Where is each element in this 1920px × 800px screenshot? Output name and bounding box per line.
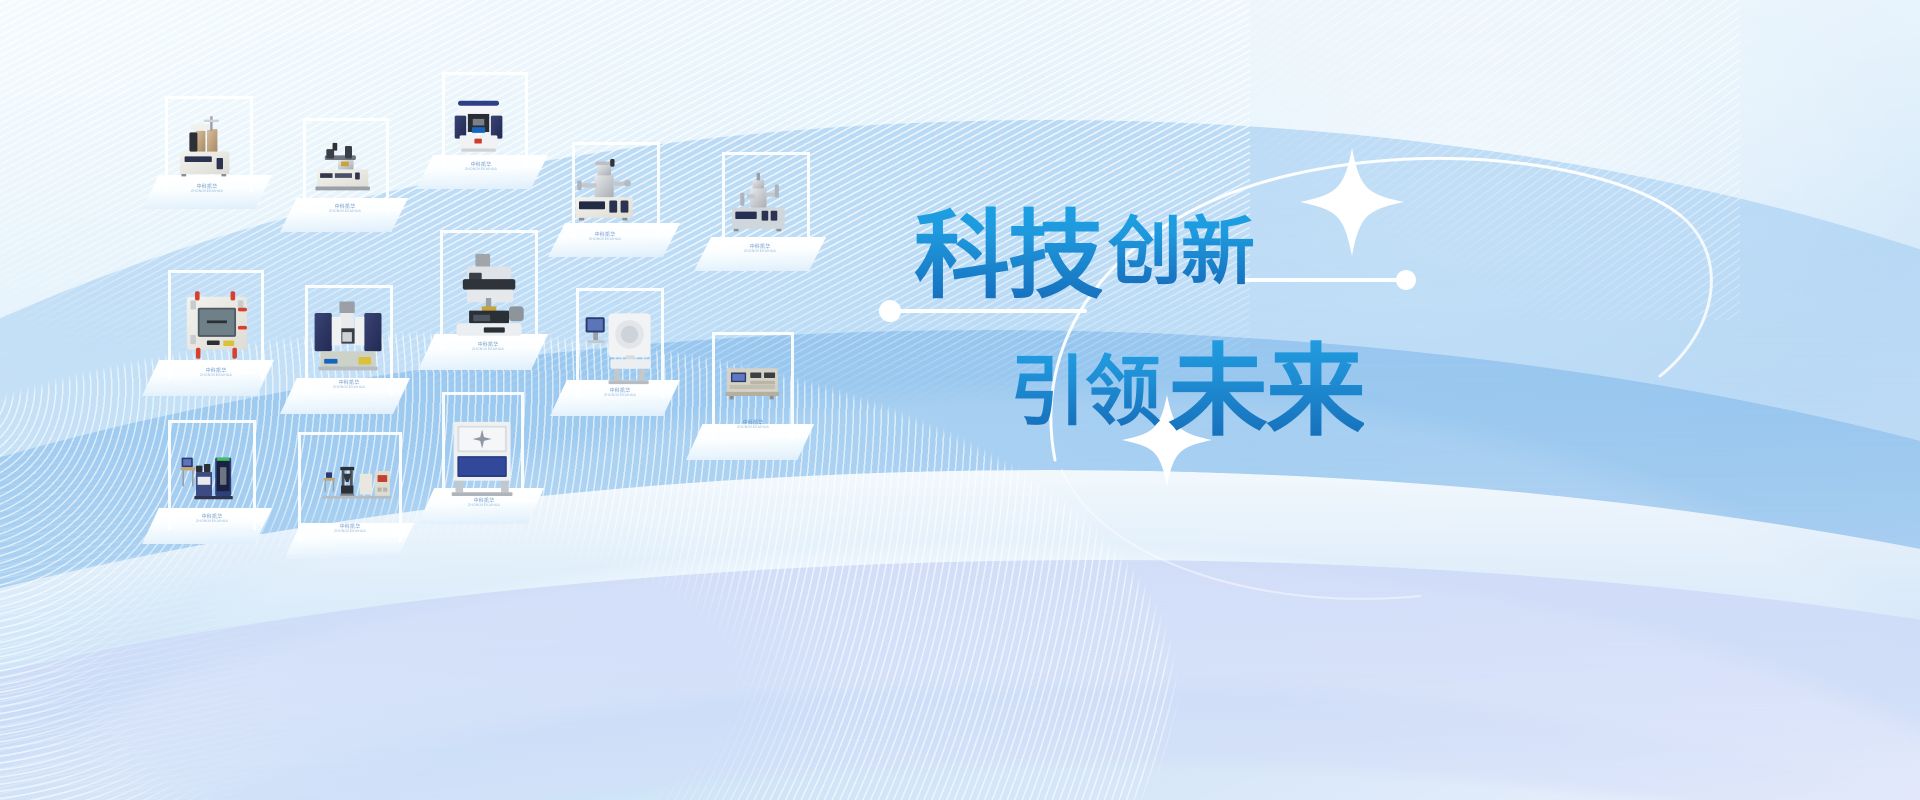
- headline-line2-light: 引领: [1010, 330, 1160, 440]
- orbit-curve-tail: [1660, 215, 1711, 376]
- headline-line1-light: 创新: [1108, 192, 1254, 299]
- headline-line1-bold: 科技: [914, 178, 1102, 317]
- orbit-node-left-dot: [879, 300, 901, 322]
- headline-line2-bold: 未来: [1168, 310, 1364, 455]
- headline-block: 科技 创新 引领 未来: [900, 170, 1460, 470]
- promo-banner: 中科凯华ZHONGKEKAIHUA 中科凯华ZHONGKEKAIHUA: [0, 0, 1920, 800]
- orbit-curve-secondary: [1062, 470, 1420, 599]
